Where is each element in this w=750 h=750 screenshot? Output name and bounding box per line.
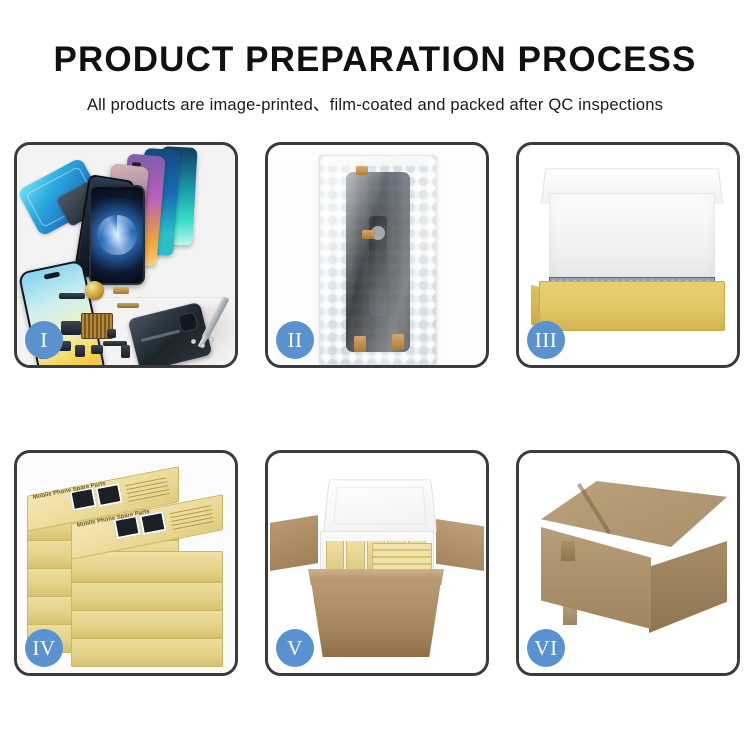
retail-box [71,579,223,611]
camera-module-part [61,321,81,335]
process-step-panel-6: VI Sealed kraft shipping carton ready fo… [516,450,740,676]
taptic-part [75,345,85,357]
styrofoam-lid [323,479,437,533]
process-step-panel-4: Mobile Phone Spare Parts Mobile Phone Sp… [14,450,238,676]
tape-piece [392,334,404,350]
carton-tape [563,605,577,625]
tape-piece [356,166,368,175]
button-part [107,329,116,338]
process-step-panel-3: III Yellow mailer box with foam pad and … [516,142,740,368]
step-badge-6: VI [527,629,565,667]
retail-box [71,607,223,639]
retail-box [71,635,223,667]
foam-pad [549,193,715,285]
tape-piece [354,336,366,352]
page-subtitle: All products are image-printed、film-coat… [0,82,750,115]
header: PRODUCT PREPARATION PROCESS All products… [0,0,750,115]
gold-connector-part [113,287,129,294]
front-glass-panel [89,185,145,285]
bag-seal-top [328,155,428,166]
step-badge-2: II [276,321,314,359]
step-badge-1: I [25,321,63,359]
process-step-grid: I Phone screens, displays and spare part… [14,142,738,676]
sim-tray-part [91,345,103,354]
carton-tape [561,541,575,561]
connector-part [121,345,130,358]
flex-cable-part [59,293,85,299]
product-preparation-infographic: { "header": { "title": "PRODUCT PREPARAT… [0,0,750,750]
process-step-panel-5: V Carton with styrofoam cooler holding p… [265,450,489,676]
process-step-panel-1: I Phone screens, displays and spare part… [14,142,238,368]
carton-flap-left [270,515,318,571]
tape-piece [362,230,374,239]
retail-box [71,551,223,583]
process-step-panel-2: II Screen assembly sealed in bubble wrap… [265,142,489,368]
wrapped-screen-assembly [346,172,410,352]
gold-flex-part [117,303,139,308]
gold-shield-part [85,281,104,300]
step-badge-5: V [276,629,314,667]
mailer-box-tray [539,281,725,331]
bubble-wrap-bag [319,155,437,365]
page-title: PRODUCT PREPARATION PROCESS [0,0,750,82]
screws-group [191,337,217,349]
carton-flap-right [436,519,484,571]
step-badge-3: III [527,321,565,359]
carton-body [302,581,450,657]
step-badge-4: IV [25,629,63,667]
